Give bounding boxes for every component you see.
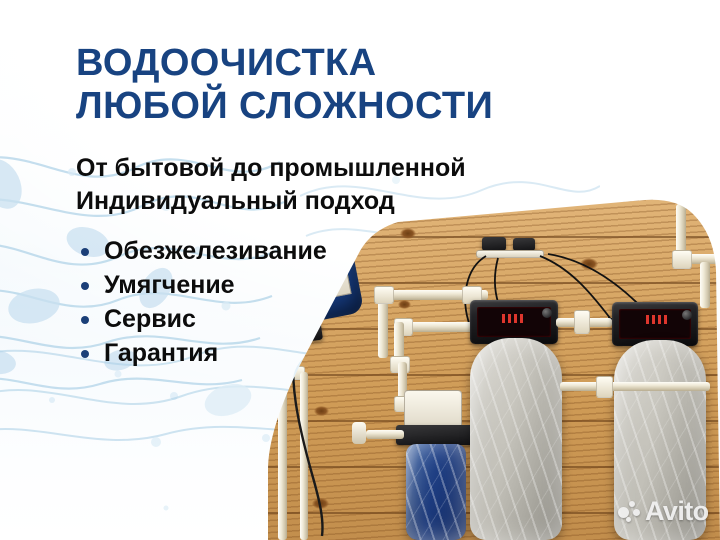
list-item: Обезжелезивание — [76, 236, 406, 267]
avito-wordmark: Avito — [645, 498, 709, 525]
list-item: Гарантия — [76, 338, 406, 369]
prefilter-head — [396, 425, 476, 445]
drain-tap — [352, 422, 366, 444]
pvc-pipe — [560, 382, 710, 391]
list-item-label: Сервис — [104, 305, 196, 333]
bullet-dot-icon — [81, 350, 89, 358]
valve-dial — [542, 308, 552, 318]
pipe-valve — [596, 376, 613, 398]
filter-tank — [470, 338, 562, 540]
poster-subheadline: От бытовой до промышленной Индивидуальны… — [76, 152, 546, 218]
service-list: Обезжелезивание Умягчение Сервис Гаранти… — [76, 236, 406, 372]
avito-watermark: Avito — [618, 498, 709, 525]
list-item-label: Гарантия — [104, 339, 218, 367]
pipe-valve — [574, 310, 590, 334]
valve-display-digits — [502, 314, 526, 323]
bullet-dot-icon — [81, 248, 89, 256]
poster-headline: ВОДООЧИСТКА ЛЮБОЙ СЛОЖНОСТИ — [76, 42, 546, 129]
list-item: Умягчение — [76, 270, 406, 301]
pipe-elbow — [672, 250, 692, 269]
pvc-pipe — [700, 262, 710, 308]
list-item-label: Обезжелезивание — [104, 237, 327, 265]
poster-canvas: ВОДООЧИСТКА ЛЮБОЙ СЛОЖНОСТИ От бытовой д… — [0, 0, 720, 540]
bullet-dot-icon — [81, 316, 89, 324]
list-item: Сервис — [76, 304, 406, 335]
valve-dial — [682, 310, 692, 320]
valve-display-digits — [646, 315, 668, 324]
bullet-dot-icon — [81, 282, 89, 290]
list-item-label: Умягчение — [104, 271, 235, 299]
avito-dots-icon — [618, 501, 640, 523]
valve-display — [619, 309, 691, 339]
pvc-pipe — [366, 430, 404, 439]
prefilter-housing — [406, 444, 466, 540]
